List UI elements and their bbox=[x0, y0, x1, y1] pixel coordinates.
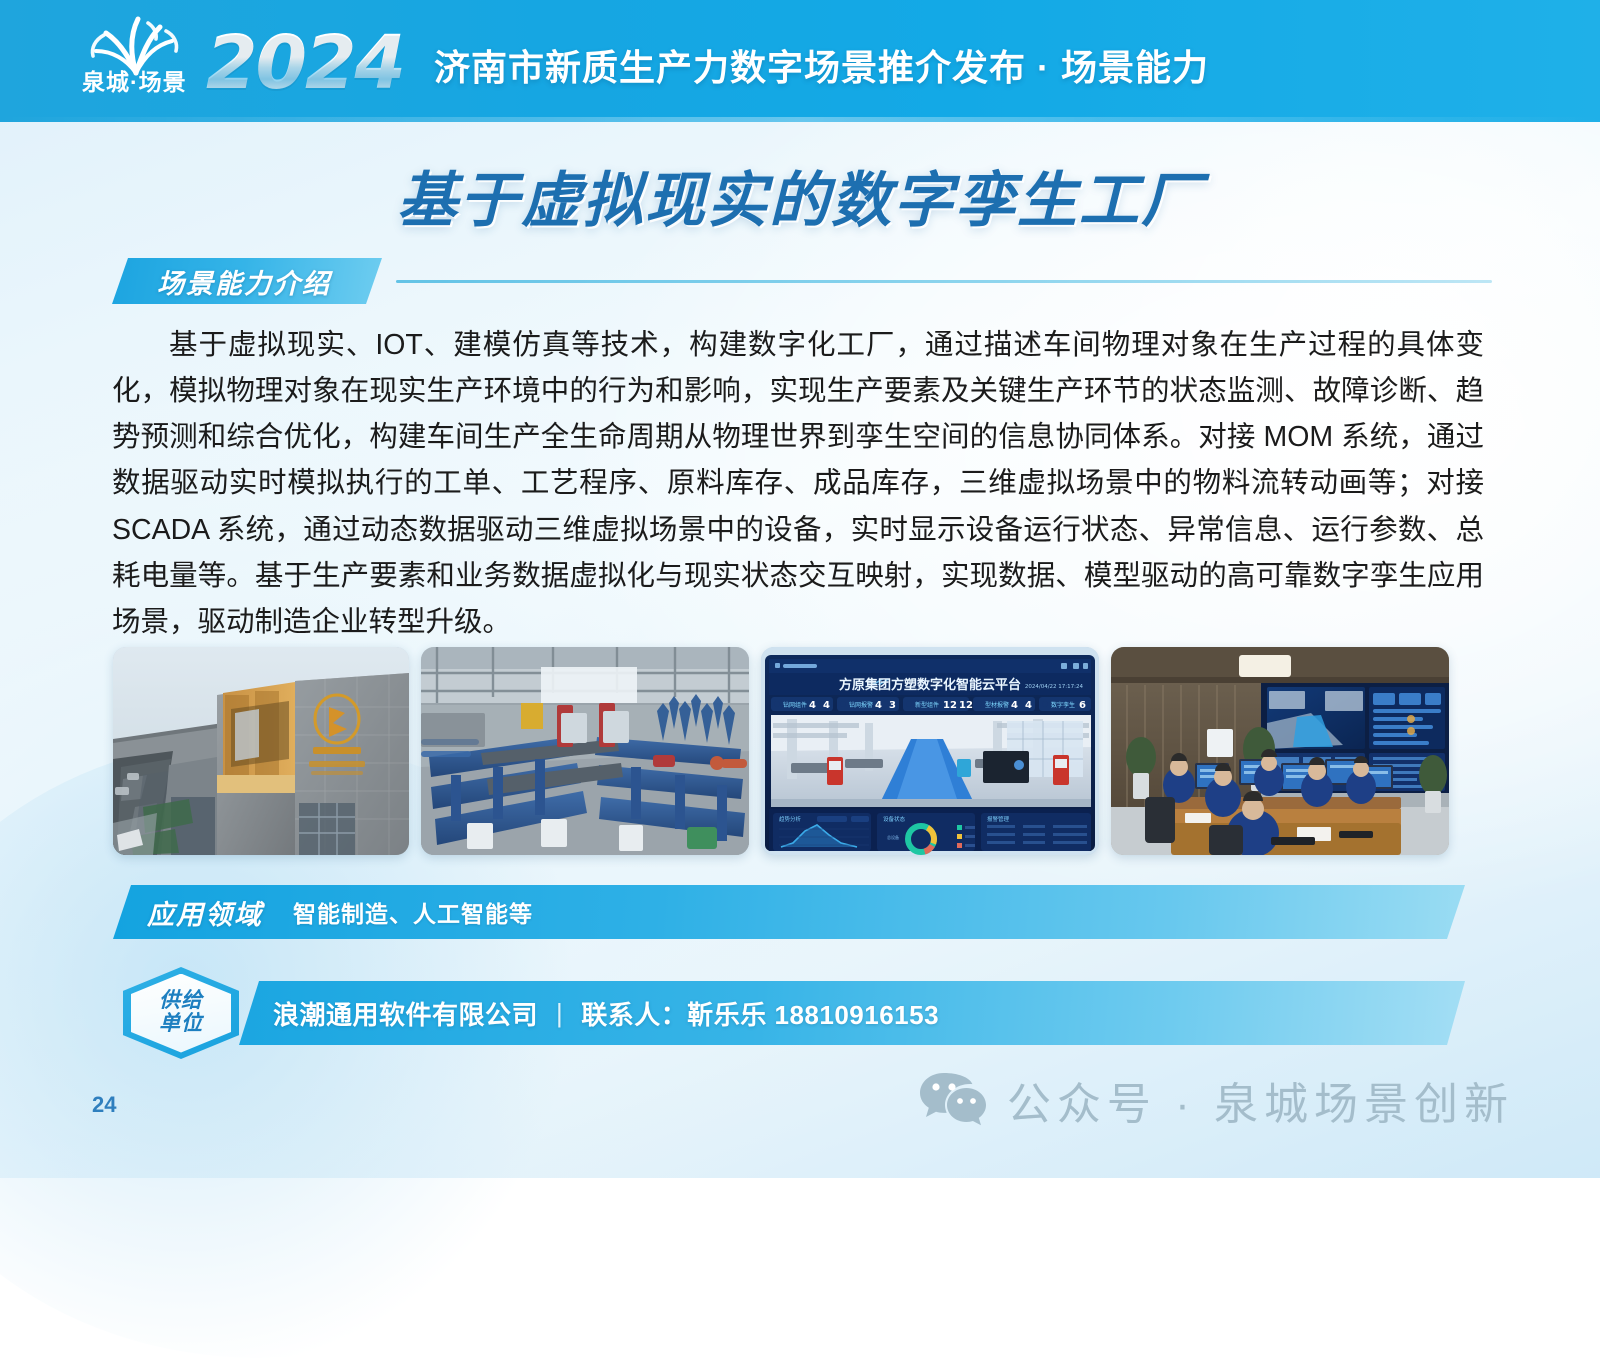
application-field-value: 智能制造、人工智能等 bbox=[293, 895, 533, 929]
section-header: 场景能力介绍 bbox=[112, 258, 1492, 304]
svg-text:3: 3 bbox=[889, 700, 896, 711]
svg-text:12: 12 bbox=[959, 700, 973, 711]
footer-brand-text: 公众号 · 泉城场景创新 bbox=[1007, 1068, 1514, 1132]
supplier-badge: 供给 单位 bbox=[123, 967, 239, 1059]
wechat-icon bbox=[919, 1069, 987, 1132]
svg-text:数字孪生: 数字孪生 bbox=[1051, 701, 1075, 709]
section-body-text: 基于虚拟现实、IOT、建模仿真等技术，构建数字化工厂，通过描述车间物理对象在生产… bbox=[112, 322, 1484, 645]
svg-text:设备状态: 设备状态 bbox=[883, 815, 906, 823]
control-room-photo bbox=[1111, 647, 1449, 855]
supplier-row: 供给 单位 浪潮通用软件有限公司 | 联系人：靳乐乐 18810916153 bbox=[113, 967, 1465, 1059]
production-line-photo bbox=[421, 647, 749, 855]
page-title: 基于虚拟现实的数字孪生工厂 bbox=[0, 152, 1600, 239]
svg-text:方原集团方塑数字化智能云平台: 方原集团方塑数字化智能云平台 bbox=[839, 677, 1021, 693]
svg-text:报警管理: 报警管理 bbox=[987, 815, 1010, 823]
application-field-label: 应用领域 bbox=[147, 893, 263, 932]
supplier-company: 浪潮通用软件有限公司 bbox=[273, 995, 538, 1032]
svg-text:钻网组件: 钻网组件 bbox=[783, 701, 807, 709]
svg-text:4: 4 bbox=[1025, 700, 1032, 711]
svg-text:型材报警: 型材报警 bbox=[985, 701, 1009, 709]
digital-twin-dashboard-photo: 方原集团方塑数字化智能云平台 2024/04/22 17:17:24 钻网组件 … bbox=[761, 647, 1099, 855]
svg-text:4: 4 bbox=[823, 700, 830, 711]
svg-text:钻网报警: 钻网报警 bbox=[849, 701, 873, 709]
page-header: 泉城·场景 2024 济南市新质生产力数字场景推介发布 · 场景能力 bbox=[0, 0, 1600, 122]
svg-text:新型组件: 新型组件 bbox=[915, 701, 939, 709]
section-divider-rule bbox=[396, 280, 1492, 283]
logo-wordmark: 泉城·场景 bbox=[82, 63, 187, 97]
supplier-separator: | bbox=[556, 998, 563, 1029]
svg-text:6: 6 bbox=[1079, 700, 1086, 711]
header-year: 2024 bbox=[206, 26, 404, 100]
svg-text:4: 4 bbox=[809, 700, 816, 711]
svg-text:4: 4 bbox=[1011, 700, 1018, 711]
supplier-contact: 联系人：靳乐乐 18810916153 bbox=[581, 995, 939, 1032]
svg-text:4: 4 bbox=[875, 700, 882, 711]
footer-brand: 公众号 · 泉城场景创新 bbox=[919, 1068, 1514, 1132]
page-number: 24 bbox=[92, 1092, 116, 1118]
supplier-badge-line1: 供给 bbox=[159, 990, 203, 1013]
page-canvas: 泉城·场景 2024 济南市新质生产力数字场景推介发布 · 场景能力 基于虚拟现… bbox=[0, 0, 1600, 1178]
svg-text:趋势分析: 趋势分析 bbox=[779, 815, 802, 823]
supplier-info: 浪潮通用软件有限公司 | 联系人：靳乐乐 18810916153 bbox=[273, 981, 939, 1045]
svg-text:2024/04/22 17:17:24: 2024/04/22 17:17:24 bbox=[1025, 684, 1084, 690]
spring-fountain-logo: 泉城·场景 bbox=[78, 15, 198, 107]
section-badge: 场景能力介绍 bbox=[112, 258, 382, 304]
factory-exterior-photo bbox=[113, 647, 409, 855]
supplier-badge-line2: 单位 bbox=[159, 1013, 203, 1036]
application-field-band: 应用领域 智能制造、人工智能等 bbox=[113, 885, 1465, 939]
svg-text:总设备: 总设备 bbox=[887, 834, 899, 840]
svg-text:12: 12 bbox=[943, 700, 957, 711]
photo-strip: 方原集团方塑数字化智能云平台 2024/04/22 17:17:24 钻网组件 … bbox=[113, 647, 1465, 855]
header-title: 济南市新质生产力数字场景推介发布 · 场景能力 bbox=[434, 39, 1209, 91]
section-badge-label: 场景能力介绍 bbox=[157, 262, 337, 301]
